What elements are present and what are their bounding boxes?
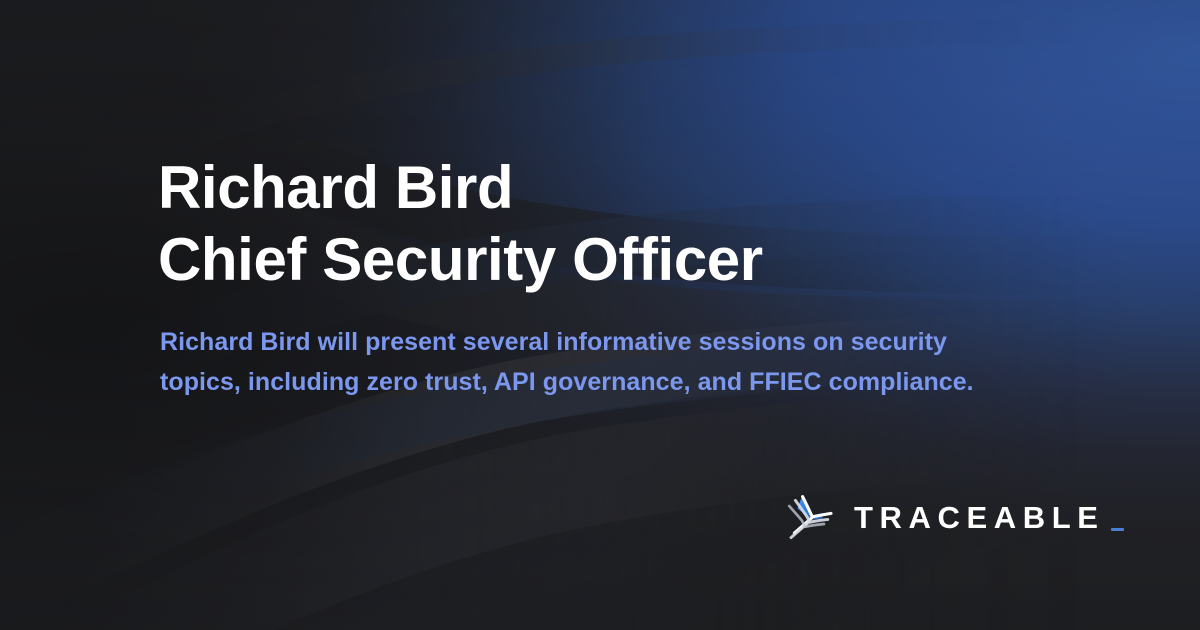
subtitle-line-2: topics, including zero trust, API govern… [160,362,1060,402]
subtitle: Richard Bird will present several inform… [160,322,1060,402]
traceable-wordmark: TRACEABLE [854,502,1124,533]
social-share-card: Richard Bird Chief Security Officer Rich… [0,0,1200,630]
traceable-logo: TRACEABLE [786,492,1124,542]
wordmark-text: TRACEABLE [854,502,1105,533]
wordmark-underscore-icon [1111,528,1124,531]
mark-arm-right-a [812,513,831,517]
page-title: Richard Bird Chief Security Officer [158,152,1018,296]
headline-line-name: Richard Bird [158,152,1018,224]
traceable-tri-arrow-icon [786,492,836,542]
card-content: Richard Bird Chief Security Officer Rich… [0,0,1200,630]
headline-line-role: Chief Security Officer [158,224,1018,296]
mark-arm-right-b [810,519,828,522]
subtitle-line-1: Richard Bird will present several inform… [160,322,1060,362]
